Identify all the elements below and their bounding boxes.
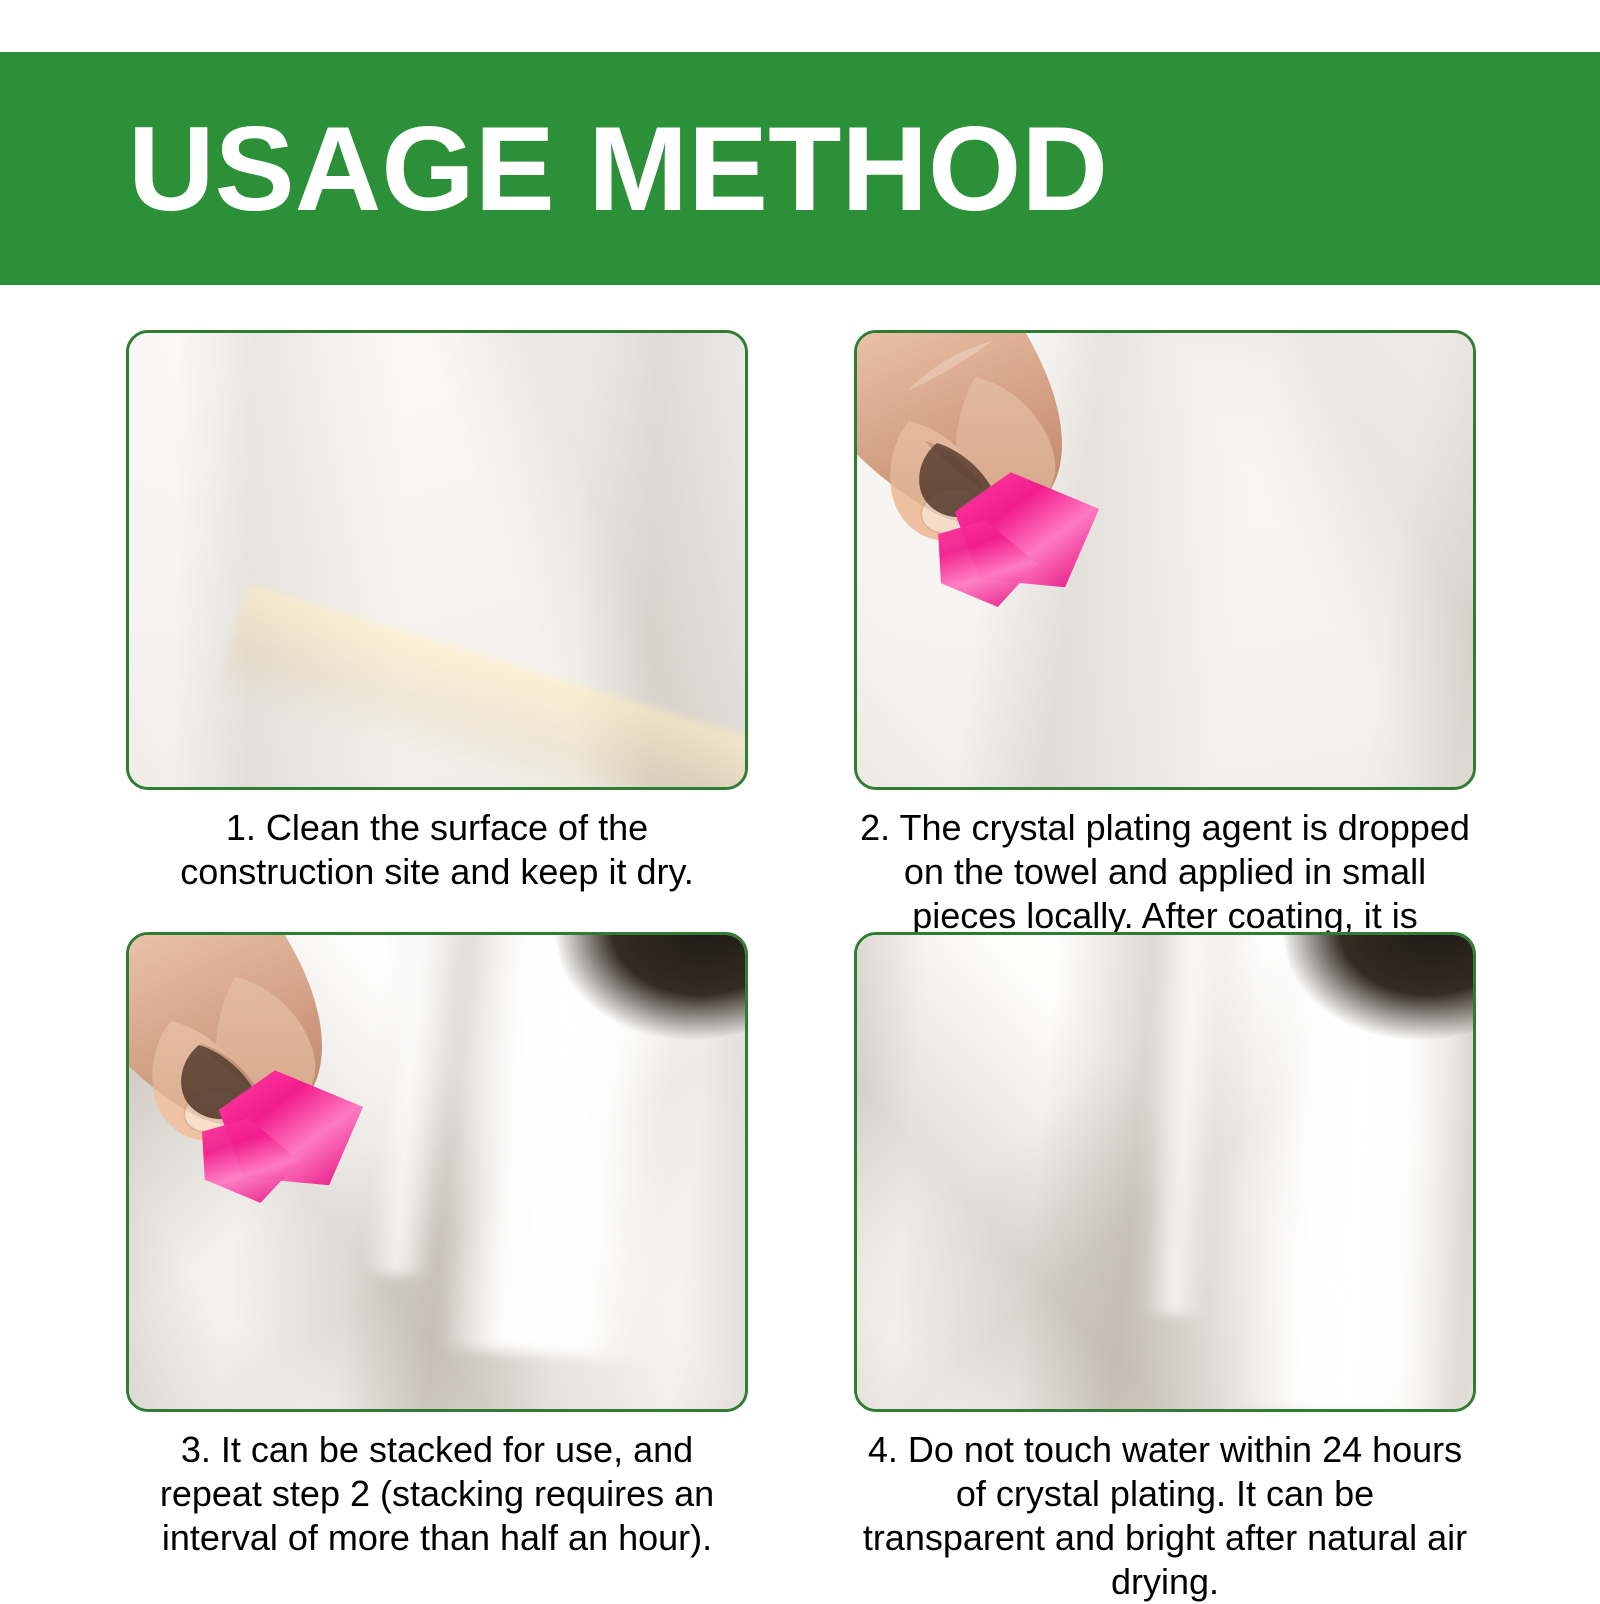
marble-table-gold-rim-scene [129, 333, 745, 787]
step-4: 4. Do not touch water within 24 hours of… [854, 932, 1476, 1604]
step-1-photo [126, 330, 748, 790]
step-3-caption: 3. It can be stacked for use, and repeat… [126, 1428, 748, 1560]
step-4-caption: 4. Do not touch water within 24 hours of… [854, 1428, 1476, 1604]
steps-grid: 1. Clean the surface of the construction… [0, 300, 1600, 1600]
step-2: 2. The crystal plating agent is dropped … [854, 330, 1476, 982]
hand-holding-towel [126, 932, 515, 1269]
coated-glossy-marble-scene [857, 935, 1473, 1409]
header-banner: USAGE METHOD [0, 52, 1600, 285]
usage-method-infographic: USAGE METHOD 1. Clean the surface of the… [0, 0, 1600, 1600]
step-3-photo [126, 932, 748, 1412]
page-title: USAGE METHOD [128, 109, 1108, 229]
step-4-photo [854, 932, 1476, 1412]
step-1-caption: 1. Clean the surface of the construction… [126, 806, 748, 894]
hand-polishing-glossy-marble-scene [129, 935, 745, 1409]
step-1: 1. Clean the surface of the construction… [126, 330, 748, 894]
step-3: 3. It can be stacked for use, and repeat… [126, 932, 748, 1560]
step-2-photo [854, 330, 1476, 790]
hand-holding-towel [854, 330, 1267, 685]
hand-wiping-marble-gold-rim-scene [857, 333, 1473, 787]
